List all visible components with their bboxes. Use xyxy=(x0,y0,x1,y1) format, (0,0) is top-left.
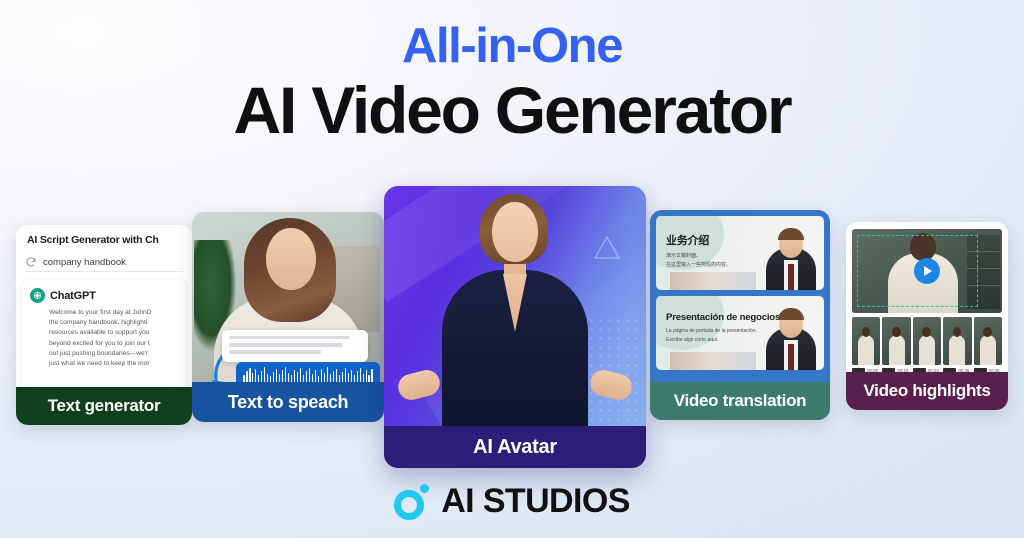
slide-photo-strip xyxy=(670,352,756,370)
card-label-text-generator: Text generator xyxy=(16,387,192,425)
brand-lockup: AI STUDIOS xyxy=(0,482,1024,521)
script-document: AI Script Generator with Ch company hand… xyxy=(16,225,192,387)
video-preview[interactable] xyxy=(852,229,1002,313)
message-line: just what we need to keep the mor xyxy=(49,359,179,369)
promo-banner: All-in-One AI Video Generator AI Script … xyxy=(0,0,1024,538)
chatgpt-response-card: ChatGPT Welcome to your first day at Joh… xyxy=(22,280,186,398)
thumbnail-item[interactable] xyxy=(974,317,1002,365)
message-line: beyond excited for you to join our t xyxy=(49,339,179,349)
card-label-ai-avatar: AI Avatar xyxy=(384,426,646,468)
assistant-name: ChatGPT xyxy=(50,290,96,302)
headline-accent: All-in-One xyxy=(0,22,1024,72)
feature-cards-row: AI Script Generator with Ch company hand… xyxy=(0,180,1024,475)
slide-title: 业务介绍 xyxy=(666,232,772,248)
search-input[interactable]: company handbook xyxy=(43,257,126,268)
triangle-watermark-icon xyxy=(592,234,622,261)
message-line: the company handbook, highlighti xyxy=(49,318,179,328)
chatgpt-header: ChatGPT xyxy=(30,288,179,303)
slide-text-block: 业务介绍 演示文稿封面。 在这里输入一些简短的内容。 xyxy=(666,232,772,269)
presenter-face xyxy=(266,228,316,290)
card-text-to-speech[interactable]: Text to speach xyxy=(192,212,384,422)
slide-chinese: 业务介绍 演示文稿封面。 在这里输入一些简短的内容。 xyxy=(656,216,824,290)
assistant-message: Welcome to your first day at JohnD the c… xyxy=(49,308,179,369)
thumbnail-item[interactable] xyxy=(882,317,910,365)
message-line: Welcome to your first day at JohnD xyxy=(49,308,179,318)
card-label-text-to-speech: Text to speach xyxy=(192,382,384,422)
slide-photo-strip xyxy=(670,272,756,290)
thumbnail-item[interactable] xyxy=(852,317,880,365)
slide-subtitle-line: 在这里输入一些简短的内容。 xyxy=(666,261,772,269)
thumbnail-strip xyxy=(852,317,1002,365)
avatar-face xyxy=(492,202,538,262)
document-search-row[interactable]: company handbook xyxy=(25,253,183,272)
presenter-cutout xyxy=(760,300,822,370)
play-button-icon[interactable] xyxy=(914,258,940,284)
message-line: not just pushing boundaries—we'r xyxy=(49,349,179,359)
brand-name: AI STUDIOS xyxy=(441,482,630,521)
message-line: resources available to support you xyxy=(49,328,179,338)
card-label-video-highlights: Video highlights xyxy=(846,372,1008,410)
card-ai-avatar[interactable]: AI Avatar xyxy=(384,186,646,468)
thumbnail-item[interactable] xyxy=(913,317,941,365)
document-title: AI Script Generator with Ch xyxy=(16,234,192,246)
headline-block: All-in-One AI Video Generator xyxy=(0,22,1024,145)
slide-subtitle-line: 演示文稿封面。 xyxy=(666,252,772,260)
slide-spanish: Presentación de negocios La página de po… xyxy=(656,296,824,370)
chatgpt-icon xyxy=(30,288,45,303)
card-video-translation[interactable]: 业务介绍 演示文稿封面。 在这里输入一些简短的内容。 Presentación … xyxy=(650,210,830,420)
presenter-cutout xyxy=(760,220,822,290)
page-title: AI Video Generator xyxy=(0,76,1024,145)
thumbnail-item[interactable] xyxy=(943,317,971,365)
card-video-highlights[interactable]: 00:05 00:18 00:29 00:38 xyxy=(846,222,1008,410)
text-script-box xyxy=(222,330,368,362)
reload-icon[interactable] xyxy=(25,256,37,268)
card-label-video-translation: Video translation xyxy=(650,382,830,420)
ai-studios-logo-icon xyxy=(394,484,430,520)
card-text-generator[interactable]: AI Script Generator with Ch company hand… xyxy=(16,225,192,425)
